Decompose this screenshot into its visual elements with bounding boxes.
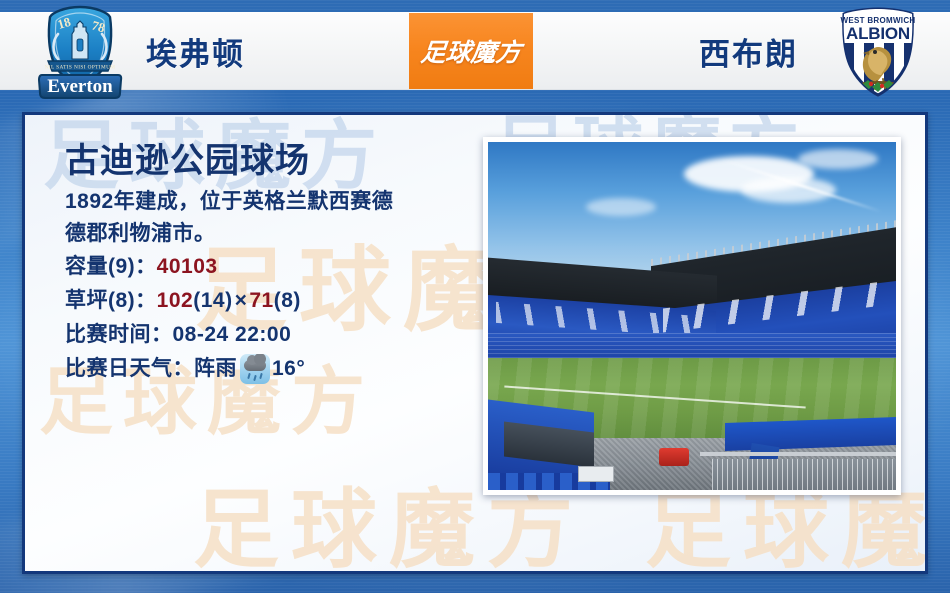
weather-row: 比赛日天气：阵雨16° <box>65 352 495 386</box>
weather-temperature: 16° <box>272 352 305 386</box>
stadium-title: 古迪逊公园球场 <box>65 143 495 180</box>
match-time-value: 08-24 22:00 <box>173 318 292 352</box>
capacity-row: 容量(9)：40103 <box>65 250 495 284</box>
svg-text:ALBION: ALBION <box>846 24 910 43</box>
pitch-width: 71 <box>249 284 273 318</box>
stadium-description-line-2: 德郡利物浦市。 <box>65 218 495 250</box>
weather-label: 比赛日天气： <box>65 352 194 386</box>
brand-badge-label: 足球魔方 <box>419 33 523 69</box>
capacity-label: 容量(9)： <box>65 250 157 284</box>
pitch-row: 草坪(8)：102(14)×71(8) <box>65 284 495 318</box>
pitch-label: 草坪(8)： <box>65 284 157 318</box>
svg-text:NIL SATIS NISI OPTIMUM: NIL SATIS NISI OPTIMUM <box>45 65 116 71</box>
stadium-info-card: 足球魔方 足球魔方 足球魔方 足球魔方 足球魔方 足球魔方 古迪逊公园球场 18… <box>22 112 928 574</box>
home-team-name: 埃弗顿 <box>146 39 245 70</box>
away-team-name: 西布朗 <box>699 39 798 70</box>
shower-rain-icon <box>240 354 270 384</box>
weather-condition: 阵雨 <box>194 352 237 386</box>
capacity-value: 40103 <box>157 250 218 284</box>
stadium-description-line-1: 1892年建成，位于英格兰默西赛德 <box>65 186 495 218</box>
pitch-length: 102 <box>157 284 194 318</box>
everton-crest: 18 78 NIL SATIS NISI OPTIMUM Everton <box>28 1 132 103</box>
west-bromwich-albion-crest: WEST BROMWICH ALBION <box>828 5 928 101</box>
brand-badge[interactable]: 足球魔方 <box>409 13 533 89</box>
watermark-bottom-right: 足球魔方 <box>645 487 928 573</box>
stadium-photo <box>488 142 896 490</box>
stadium-photo-frame <box>483 137 901 495</box>
screenshot-root: 18 78 NIL SATIS NISI OPTIMUM Everton 埃弗顿… <box>0 0 950 593</box>
pitch-separator: × <box>233 284 250 318</box>
stadium-details: 古迪逊公园球场 1892年建成，位于英格兰默西赛德 德郡利物浦市。 容量(9)：… <box>65 143 495 386</box>
match-time-row: 比赛时间：08-24 22:00 <box>65 318 495 352</box>
pitch-length-note: (14) <box>193 284 232 318</box>
svg-text:Everton: Everton <box>47 76 113 97</box>
match-header-bar: 18 78 NIL SATIS NISI OPTIMUM Everton 埃弗顿… <box>0 12 950 90</box>
match-time-label: 比赛时间： <box>65 318 173 352</box>
pitch-width-note: (8) <box>274 284 301 318</box>
watermark-bottom: 足球魔方 <box>193 487 585 573</box>
